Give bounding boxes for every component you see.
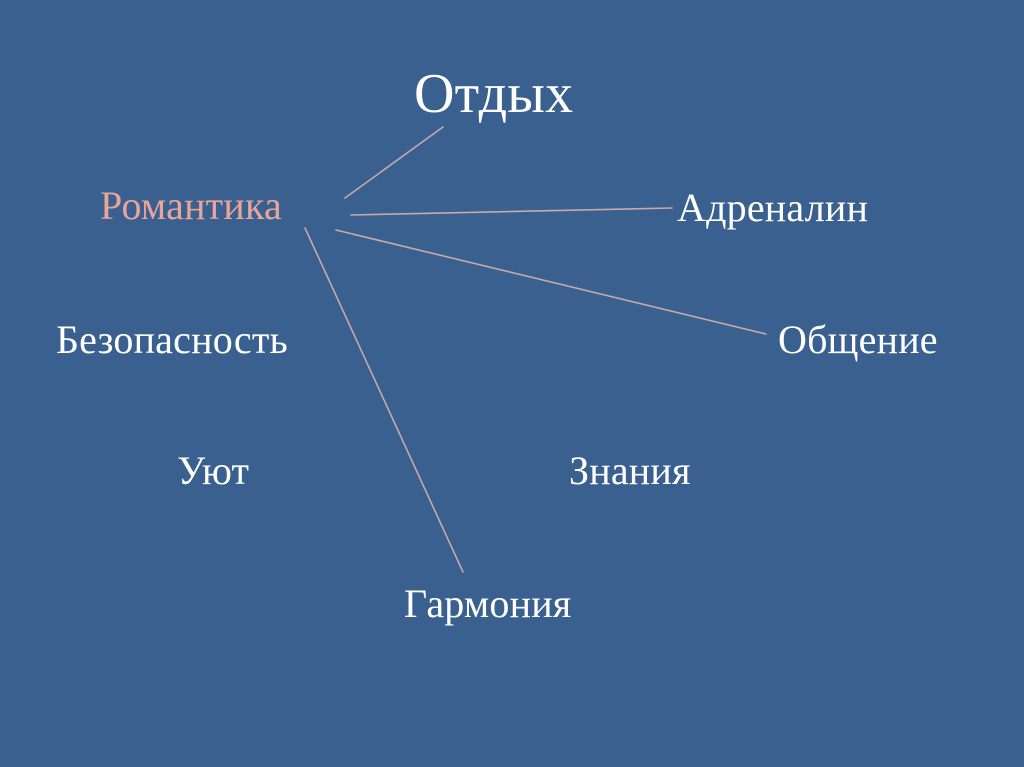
connector-romantika-otdyh [345,127,443,198]
node-adrenalin: Адреналин [677,188,868,228]
node-romantika: Романтика [100,186,282,226]
node-garmoniya: Гармония [404,584,571,624]
node-bezopasnost: Безопасность [56,320,288,360]
node-uyut: Уют [177,451,249,491]
node-otdyh: Отдых [414,66,573,122]
node-znaniya: Знания [569,451,691,491]
node-obshchenie: Общение [778,320,938,360]
connector-romantika-garmoniya [305,228,463,572]
connector-romantika-adrenalin [351,208,672,215]
slide-canvas: Отдых Романтика Адреналин Безопасность О… [0,0,1024,767]
connector-romantika-obshchenie [336,230,766,334]
